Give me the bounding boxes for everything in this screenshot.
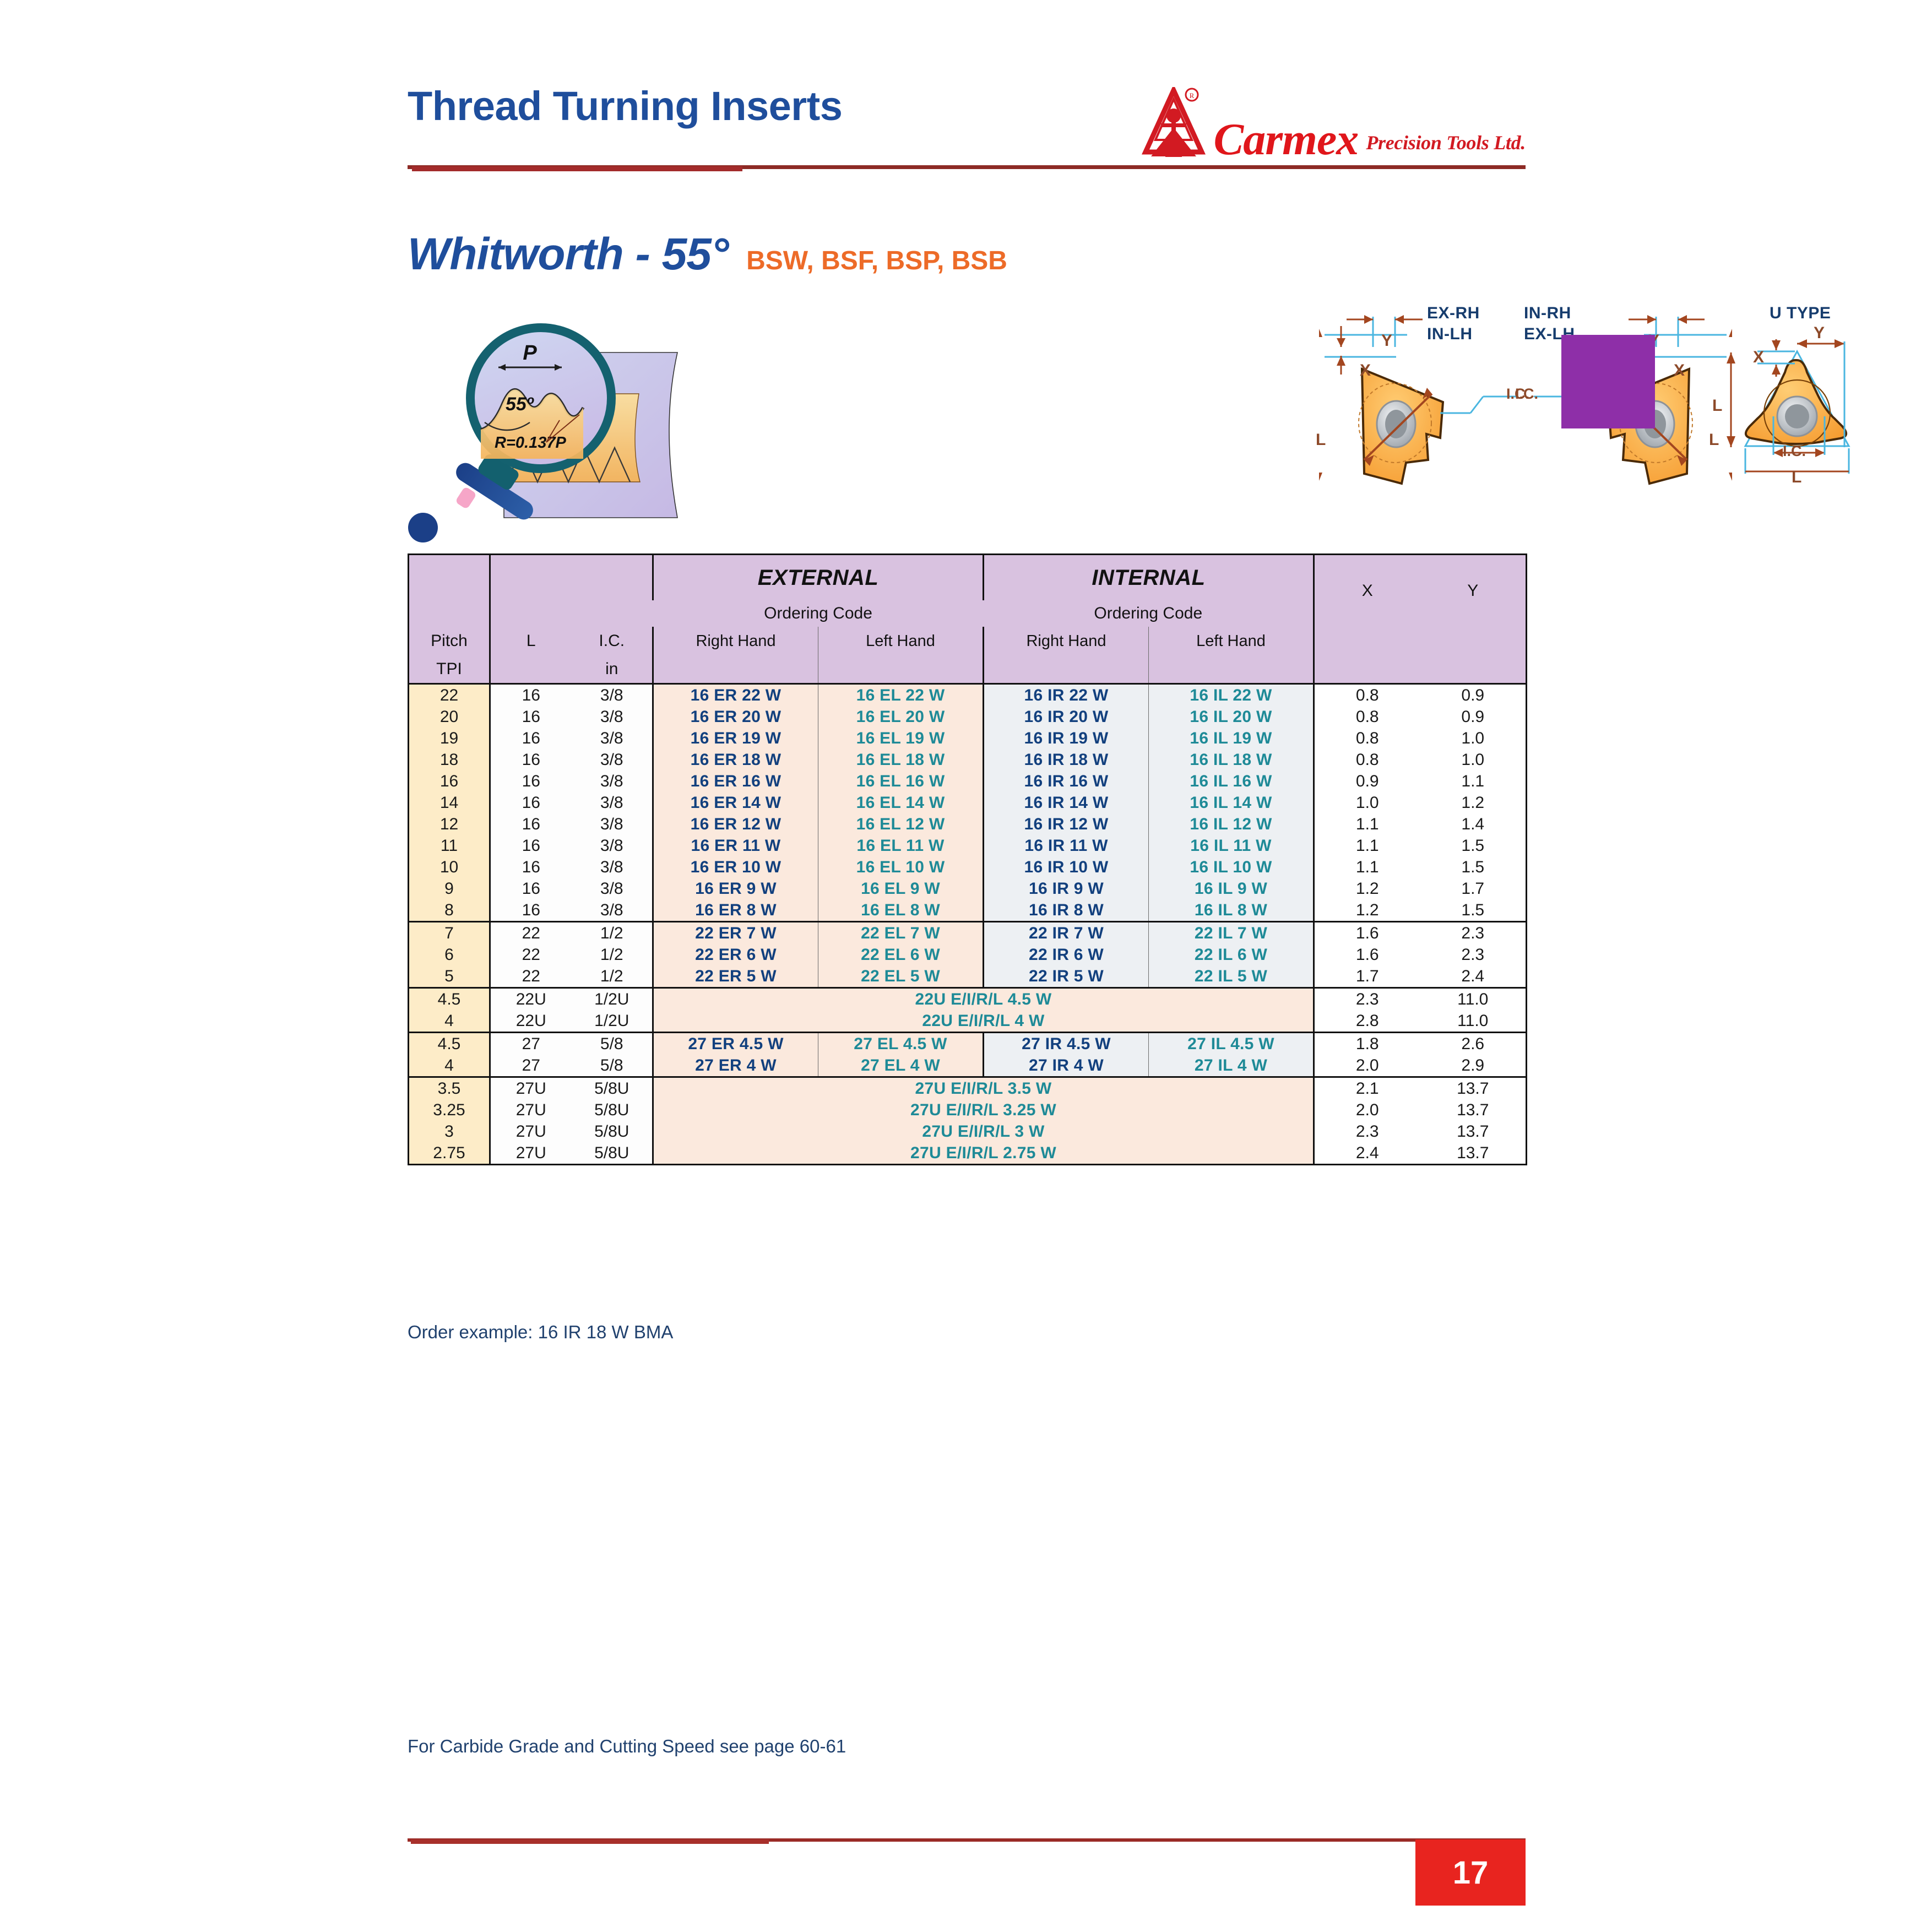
cell-y: 2.3 (1420, 944, 1527, 965)
cell-ic: 3/8 (572, 749, 653, 770)
cell-l: 27 (490, 1033, 572, 1055)
cell-internal-right-hand: 16 IR 14 W (984, 792, 1149, 813)
cell-x: 1.8 (1314, 1033, 1420, 1055)
table-header-row-4: TPI in (409, 655, 1527, 684)
cell-ic: 3/8 (572, 770, 653, 792)
cell-ic: 5/8 (572, 1055, 653, 1077)
section-standards: BSW, BSF, BSP, BSB (746, 246, 1007, 275)
cell-internal-right-hand: 16 IR 11 W (984, 835, 1149, 856)
cell-internal-left-hand: 27 IL 4.5 W (1149, 1033, 1314, 1055)
cell-external-right-hand: 16 ER 11 W (653, 835, 818, 856)
cell-ic: 1/2 (572, 965, 653, 988)
cell-internal-left-hand: 16 IL 18 W (1149, 749, 1314, 770)
cell-internal-right-hand: 16 IR 18 W (984, 749, 1149, 770)
cell-internal-left-hand: 22 IL 7 W (1149, 922, 1314, 945)
th-pitch: Pitch (409, 627, 490, 655)
cell-y: 11.0 (1420, 988, 1527, 1011)
cell-ic: 5/8U (572, 1099, 653, 1121)
cell-pitch: 14 (409, 792, 490, 813)
cell-external-right-hand: 16 ER 22 W (653, 684, 818, 707)
insert-right-dim-ic: I.C. (1515, 386, 1538, 403)
cell-internal-left-hand: 16 IL 9 W (1149, 878, 1314, 899)
cell-merged-ordering-code: 27U E/I/R/L 3.5 W (653, 1077, 1314, 1100)
cell-internal-left-hand: 16 IL 11 W (1149, 835, 1314, 856)
cell-ic: 3/8 (572, 899, 653, 922)
cell-external-left-hand: 27 EL 4.5 W (818, 1033, 984, 1055)
cell-ic: 3/8 (572, 706, 653, 728)
cell-external-left-hand: 16 EL 18 W (818, 749, 984, 770)
cell-l: 27U (490, 1099, 572, 1121)
u-type-dim-y: Y (1814, 324, 1825, 343)
cell-y: 1.4 (1420, 813, 1527, 835)
cell-y: 11.0 (1420, 1010, 1527, 1033)
cell-internal-right-hand: 16 IR 8 W (984, 899, 1149, 922)
carmex-tagline: Precision Tools Ltd. (1366, 131, 1526, 160)
th-ic-label: I.C. (572, 627, 653, 655)
cell-pitch: 7 (409, 922, 490, 945)
insert-specification-table: EXTERNAL INTERNAL X Y Ordering Code Orde… (408, 553, 1527, 1165)
cell-y: 1.7 (1420, 878, 1527, 899)
cell-l: 16 (490, 835, 572, 856)
table-row: 2.7527U5/8U27U E/I/R/L 2.75 W2.413.7 (409, 1142, 1527, 1165)
cell-pitch: 4 (409, 1055, 490, 1077)
cell-x: 0.8 (1314, 749, 1420, 770)
cell-internal-left-hand: 27 IL 4 W (1149, 1055, 1314, 1077)
cell-pitch: 8 (409, 899, 490, 922)
table-row: 19163/816 ER 19 W16 EL 19 W16 IR 19 W16 … (409, 728, 1527, 749)
insert-diagrams: EX-RH IN-LH IN-RH EX-LH Y X L I.C. Y X L… (1319, 308, 1732, 545)
cell-external-right-hand: 16 ER 9 W (653, 878, 818, 899)
cell-pitch: 4 (409, 1010, 490, 1033)
th-external-ordering-code: Ordering Code (653, 600, 984, 627)
cell-l: 16 (490, 856, 572, 878)
th-tpi: TPI (409, 655, 490, 684)
cell-y: 13.7 (1420, 1099, 1527, 1121)
svg-text:R: R (1189, 91, 1194, 100)
cell-external-right-hand: 16 ER 10 W (653, 856, 818, 878)
insert-right-dim-l: L (1709, 431, 1719, 449)
table-row: 5221/222 ER 5 W22 EL 5 W22 IR 5 W22 IL 5… (409, 965, 1527, 988)
cell-ic: 1/2 (572, 944, 653, 965)
table-row: 18163/816 ER 18 W16 EL 18 W16 IR 18 W16 … (409, 749, 1527, 770)
cell-x: 2.4 (1314, 1142, 1420, 1165)
table-row: 4.522U1/2U22U E/I/R/L 4.5 W2.311.0 (409, 988, 1527, 1011)
cell-y: 2.6 (1420, 1033, 1527, 1055)
cell-pitch: 5 (409, 965, 490, 988)
cell-l: 22 (490, 965, 572, 988)
u-type-diagram: U TYPE Y X L I.C. L (1721, 308, 1903, 545)
cell-x: 0.8 (1314, 684, 1420, 707)
table-header-row-3: Pitch L I.C. Right Hand Left Hand Right … (409, 627, 1527, 655)
cell-pitch: 20 (409, 706, 490, 728)
cell-external-right-hand: 16 ER 14 W (653, 792, 818, 813)
cell-l: 27U (490, 1121, 572, 1142)
svg-text:R=0.137P: R=0.137P (495, 434, 566, 452)
cell-ic: 3/8 (572, 856, 653, 878)
th-ext-rh-spacer (653, 655, 818, 684)
cell-l: 16 (490, 706, 572, 728)
th-l (490, 555, 572, 627)
cell-l: 16 (490, 728, 572, 749)
cell-x: 1.1 (1314, 813, 1420, 835)
header-divider-accent (412, 166, 742, 171)
cell-internal-left-hand: 16 IL 12 W (1149, 813, 1314, 835)
insert-left-dim-l: L (1316, 431, 1326, 449)
cell-pitch: 2.75 (409, 1142, 490, 1165)
cell-external-right-hand: 16 ER 16 W (653, 770, 818, 792)
th-int-left-hand: Left Hand (1149, 627, 1314, 655)
cell-internal-right-hand: 27 IR 4 W (984, 1055, 1149, 1077)
cell-external-left-hand: 16 EL 8 W (818, 899, 984, 922)
cell-internal-right-hand: 27 IR 4.5 W (984, 1033, 1149, 1055)
carmex-logo: R Carmex Precision Tools Ltd. (1141, 87, 1526, 160)
order-example: Order example: 16 IR 18 W BMA (408, 1322, 673, 1343)
table-row: 6221/222 ER 6 W22 EL 6 W22 IR 6 W22 IL 6… (409, 944, 1527, 965)
th-ext-left-hand: Left Hand (818, 627, 984, 655)
cell-pitch: 16 (409, 770, 490, 792)
th-external: EXTERNAL (653, 555, 984, 601)
cell-l: 22 (490, 944, 572, 965)
cell-pitch: 10 (409, 856, 490, 878)
cell-y: 0.9 (1420, 684, 1527, 707)
table-row: 4.5275/827 ER 4.5 W27 EL 4.5 W27 IR 4.5 … (409, 1033, 1527, 1055)
insert-left-dim-x: X (1360, 361, 1371, 380)
cell-y: 2.4 (1420, 965, 1527, 988)
cell-merged-ordering-code: 27U E/I/R/L 3.25 W (653, 1099, 1314, 1121)
th-y: Y (1420, 555, 1527, 627)
carbide-grade-note: For Carbide Grade and Cutting Speed see … (408, 1736, 846, 1757)
page-number-badge: 17 (1415, 1839, 1526, 1906)
cell-l: 22U (490, 988, 572, 1011)
carmex-triangle-icon: R (1141, 87, 1206, 160)
th-x-spacer (1314, 655, 1420, 684)
th-ext-right-hand: Right Hand (653, 627, 818, 655)
cell-x: 2.8 (1314, 1010, 1420, 1033)
cell-external-right-hand: 16 ER 19 W (653, 728, 818, 749)
cell-x: 1.6 (1314, 944, 1420, 965)
cell-l: 22U (490, 1010, 572, 1033)
cell-external-left-hand: 16 EL 22 W (818, 684, 984, 707)
cell-l: 16 (490, 792, 572, 813)
table-row: 9163/816 ER 9 W16 EL 9 W16 IR 9 W16 IL 9… (409, 878, 1527, 899)
cell-external-right-hand: 16 ER 18 W (653, 749, 818, 770)
table-header-row-1: EXTERNAL INTERNAL X Y (409, 555, 1527, 601)
cell-internal-right-hand: 16 IR 19 W (984, 728, 1149, 749)
svg-text:55º: 55º (506, 394, 534, 415)
cell-external-left-hand: 22 EL 5 W (818, 965, 984, 988)
cell-ic: 1/2 (572, 922, 653, 945)
thread-profile-diagram: P 55º R=0.137P (402, 317, 688, 545)
th-internal: INTERNAL (984, 555, 1314, 601)
cell-ic: 5/8U (572, 1121, 653, 1142)
cell-internal-left-hand: 16 IL 16 W (1149, 770, 1314, 792)
cell-y: 2.9 (1420, 1055, 1527, 1077)
cell-x: 2.0 (1314, 1099, 1420, 1121)
u-type-title: U TYPE (1770, 304, 1831, 323)
cell-l: 16 (490, 813, 572, 835)
th-internal-ordering-code: Ordering Code (984, 600, 1314, 627)
cell-x: 0.9 (1314, 770, 1420, 792)
cell-internal-left-hand: 16 IL 20 W (1149, 706, 1314, 728)
th-int-right-hand: Right Hand (984, 627, 1149, 655)
th-int-rh-spacer (984, 655, 1149, 684)
cell-l: 16 (490, 878, 572, 899)
insert-right-dim-x: X (1674, 361, 1685, 380)
cell-l: 27 (490, 1055, 572, 1077)
cell-internal-left-hand: 22 IL 6 W (1149, 944, 1314, 965)
cell-merged-ordering-code: 22U E/I/R/L 4 W (653, 1010, 1314, 1033)
cell-x: 1.6 (1314, 922, 1420, 945)
cell-ic: 5/8U (572, 1077, 653, 1100)
u-type-dim-x: X (1753, 348, 1764, 367)
cell-pitch: 22 (409, 684, 490, 707)
cell-external-right-hand: 27 ER 4 W (653, 1055, 818, 1077)
cell-l: 16 (490, 684, 572, 707)
cell-x: 1.2 (1314, 899, 1420, 922)
cell-external-left-hand: 16 EL 16 W (818, 770, 984, 792)
table-row: 11163/816 ER 11 W16 EL 11 W16 IR 11 W16 … (409, 835, 1527, 856)
table-body: 22163/816 ER 22 W16 EL 22 W16 IR 22 W16 … (409, 684, 1527, 1165)
cell-l: 16 (490, 749, 572, 770)
cell-pitch: 3.5 (409, 1077, 490, 1100)
th-ic-unit: in (572, 655, 653, 684)
cell-x: 1.2 (1314, 878, 1420, 899)
u-type-dim-ic: I.C. (1783, 443, 1806, 460)
table-row: 12163/816 ER 12 W16 EL 12 W16 IR 12 W16 … (409, 813, 1527, 835)
cell-x: 2.3 (1314, 1121, 1420, 1142)
catalog-page: Thread Turning Inserts R Carmex Precisio… (0, 0, 1932, 1932)
cell-y: 13.7 (1420, 1142, 1527, 1165)
cell-pitch: 4.5 (409, 988, 490, 1011)
table-row: 4275/827 ER 4 W27 EL 4 W27 IR 4 W27 IL 4… (409, 1055, 1527, 1077)
cell-pitch: 9 (409, 878, 490, 899)
cell-external-left-hand: 16 EL 10 W (818, 856, 984, 878)
cell-internal-right-hand: 22 IR 7 W (984, 922, 1149, 945)
cell-merged-ordering-code: 27U E/I/R/L 3 W (653, 1121, 1314, 1142)
table-row: 3.2527U5/8U27U E/I/R/L 3.25 W2.013.7 (409, 1099, 1527, 1121)
cell-internal-right-hand: 16 IR 12 W (984, 813, 1149, 835)
insert-left-title-line2: IN-LH (1427, 325, 1472, 344)
cell-merged-ordering-code: 27U E/I/R/L 2.75 W (653, 1142, 1314, 1165)
th-ic (572, 555, 653, 627)
table-row: 10163/816 ER 10 W16 EL 10 W16 IR 10 W16 … (409, 856, 1527, 878)
cell-ic: 5/8U (572, 1142, 653, 1165)
cell-internal-right-hand: 16 IR 16 W (984, 770, 1149, 792)
cell-y: 2.3 (1420, 922, 1527, 945)
th-l-unit (490, 655, 572, 684)
cell-ic: 3/8 (572, 813, 653, 835)
cell-pitch: 12 (409, 813, 490, 835)
cell-internal-right-hand: 16 IR 9 W (984, 878, 1149, 899)
cell-external-right-hand: 16 ER 12 W (653, 813, 818, 835)
page-title: Thread Turning Inserts (408, 83, 842, 129)
table-row: 14163/816 ER 14 W16 EL 14 W16 IR 14 W16 … (409, 792, 1527, 813)
cell-external-left-hand: 27 EL 4 W (818, 1055, 984, 1077)
cell-y: 13.7 (1420, 1121, 1527, 1142)
th-ext-lh-spacer (818, 655, 984, 684)
insert-right-title-line1: IN-RH (1524, 304, 1571, 323)
cell-ic: 3/8 (572, 684, 653, 707)
cell-y: 1.5 (1420, 899, 1527, 922)
table-row: 327U5/8U27U E/I/R/L 3 W2.313.7 (409, 1121, 1527, 1142)
th-x-blank (1314, 627, 1420, 655)
cell-external-right-hand: 16 ER 20 W (653, 706, 818, 728)
illustration-row: P 55º R=0.137P (402, 308, 1531, 545)
cell-internal-right-hand: 16 IR 20 W (984, 706, 1149, 728)
cell-ic: 1/2U (572, 1010, 653, 1033)
cell-ic: 3/8 (572, 728, 653, 749)
cell-internal-right-hand: 16 IR 10 W (984, 856, 1149, 878)
cell-external-left-hand: 22 EL 6 W (818, 944, 984, 965)
cell-external-right-hand: 22 ER 7 W (653, 922, 818, 945)
cell-pitch: 18 (409, 749, 490, 770)
cell-internal-right-hand: 22 IR 5 W (984, 965, 1149, 988)
cell-internal-right-hand: 22 IR 6 W (984, 944, 1149, 965)
cell-pitch: 19 (409, 728, 490, 749)
cell-internal-left-hand: 16 IL 14 W (1149, 792, 1314, 813)
cell-internal-left-hand: 16 IL 10 W (1149, 856, 1314, 878)
cell-external-right-hand: 16 ER 8 W (653, 899, 818, 922)
table-row: 7221/222 ER 7 W22 EL 7 W22 IR 7 W22 IL 7… (409, 922, 1527, 945)
table-row: 22163/816 ER 22 W16 EL 22 W16 IR 22 W16 … (409, 684, 1527, 707)
cell-ic: 3/8 (572, 792, 653, 813)
u-type-dim-l: L (1712, 397, 1722, 415)
cell-internal-right-hand: 16 IR 22 W (984, 684, 1149, 707)
cell-l: 16 (490, 770, 572, 792)
cell-external-left-hand: 22 EL 7 W (818, 922, 984, 945)
cell-internal-left-hand: 16 IL 22 W (1149, 684, 1314, 707)
cell-external-right-hand: 22 ER 6 W (653, 944, 818, 965)
cell-external-left-hand: 16 EL 20 W (818, 706, 984, 728)
cell-x: 0.8 (1314, 728, 1420, 749)
cell-ic: 3/8 (572, 878, 653, 899)
cell-pitch: 3 (409, 1121, 490, 1142)
table-row: 16163/816 ER 16 W16 EL 16 W16 IR 16 W16 … (409, 770, 1527, 792)
cell-external-left-hand: 16 EL 12 W (818, 813, 984, 835)
th-y-blank (1420, 627, 1527, 655)
cell-y: 1.1 (1420, 770, 1527, 792)
cell-x: 2.1 (1314, 1077, 1420, 1100)
cell-y: 1.2 (1420, 792, 1527, 813)
table-row: 8163/816 ER 8 W16 EL 8 W16 IR 8 W16 IL 8… (409, 899, 1527, 922)
cell-pitch: 11 (409, 835, 490, 856)
section-title-row: Whitworth - 55° BSW, BSF, BSP, BSB (408, 229, 1007, 280)
section-title: Whitworth - 55° (408, 229, 729, 279)
purple-swatch (1561, 335, 1655, 428)
cell-y: 1.0 (1420, 749, 1527, 770)
cell-external-left-hand: 16 EL 9 W (818, 878, 984, 899)
footer-divider-accent (411, 1839, 769, 1844)
carmex-wordmark: Carmex (1214, 119, 1359, 160)
cell-l: 16 (490, 899, 572, 922)
cell-pitch: 3.25 (409, 1099, 490, 1121)
cell-ic: 1/2U (572, 988, 653, 1011)
cell-y: 1.0 (1420, 728, 1527, 749)
table-row: 3.527U5/8U27U E/I/R/L 3.5 W2.113.7 (409, 1077, 1527, 1100)
cell-internal-left-hand: 22 IL 5 W (1149, 965, 1314, 988)
cell-x: 1.1 (1314, 835, 1420, 856)
cell-merged-ordering-code: 22U E/I/R/L 4.5 W (653, 988, 1314, 1011)
table-row: 422U1/2U22U E/I/R/L 4 W2.811.0 (409, 1010, 1527, 1033)
th-y-spacer (1420, 655, 1527, 684)
cell-ic: 3/8 (572, 835, 653, 856)
th-int-lh-spacer (1149, 655, 1314, 684)
cell-external-right-hand: 27 ER 4.5 W (653, 1033, 818, 1055)
cell-internal-left-hand: 16 IL 8 W (1149, 899, 1314, 922)
cell-internal-left-hand: 16 IL 19 W (1149, 728, 1314, 749)
cell-pitch: 6 (409, 944, 490, 965)
cell-y: 13.7 (1420, 1077, 1527, 1100)
cell-x: 1.0 (1314, 792, 1420, 813)
cell-x: 2.3 (1314, 988, 1420, 1011)
cell-l: 27U (490, 1142, 572, 1165)
cell-x: 2.0 (1314, 1055, 1420, 1077)
insert-left-title-line1: EX-RH (1427, 304, 1480, 323)
cell-y: 1.5 (1420, 856, 1527, 878)
u-type-dim-l-bottom: L (1792, 468, 1801, 487)
th-l-label: L (490, 627, 572, 655)
cell-external-left-hand: 16 EL 14 W (818, 792, 984, 813)
cell-y: 1.5 (1420, 835, 1527, 856)
cell-l: 22 (490, 922, 572, 945)
cell-external-left-hand: 16 EL 19 W (818, 728, 984, 749)
cell-x: 0.8 (1314, 706, 1420, 728)
table-row: 20163/816 ER 20 W16 EL 20 W16 IR 20 W16 … (409, 706, 1527, 728)
cell-x: 1.7 (1314, 965, 1420, 988)
cell-ic: 5/8 (572, 1033, 653, 1055)
svg-text:P: P (523, 341, 537, 365)
insert-left-dim-y: Y (1381, 332, 1392, 350)
th-pitch-tpi (409, 555, 490, 627)
cell-external-right-hand: 22 ER 5 W (653, 965, 818, 988)
th-x: X (1314, 555, 1420, 627)
cell-l: 27U (490, 1077, 572, 1100)
cell-external-left-hand: 16 EL 11 W (818, 835, 984, 856)
cell-x: 1.1 (1314, 856, 1420, 878)
cell-pitch: 4.5 (409, 1033, 490, 1055)
cell-y: 0.9 (1420, 706, 1527, 728)
